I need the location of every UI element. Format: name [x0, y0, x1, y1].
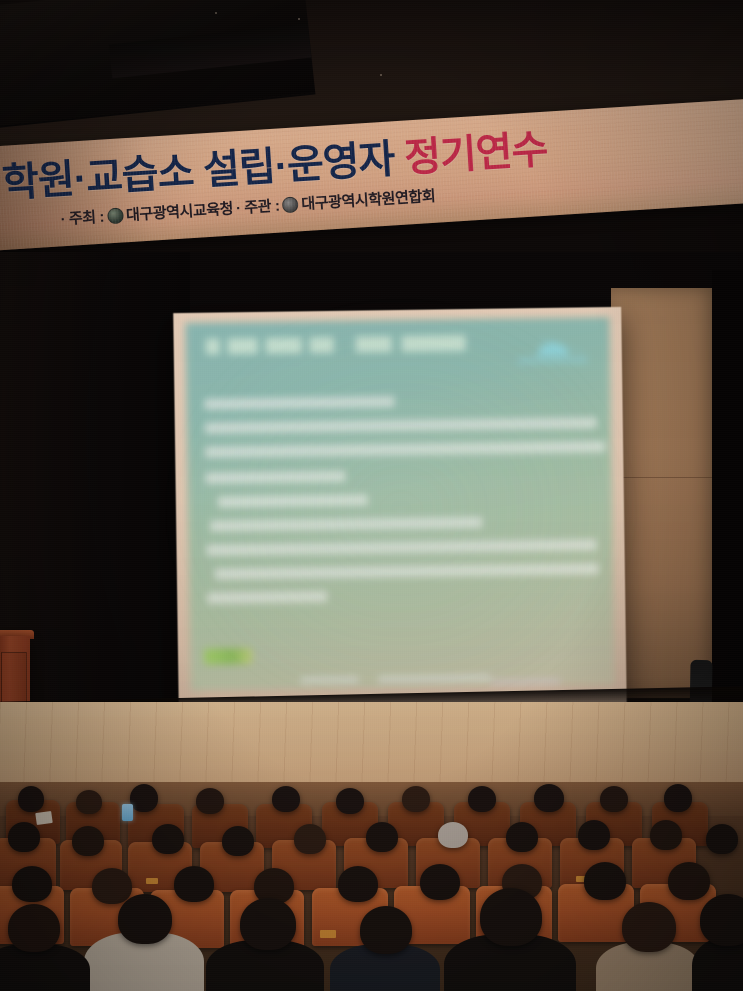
projection-screen [173, 307, 627, 713]
handout-paper [35, 811, 53, 825]
slide-body-line [205, 417, 597, 433]
audience-head [92, 868, 132, 904]
phone-screen [122, 804, 133, 821]
audience-head [700, 894, 743, 946]
globe-emblem-icon [107, 207, 124, 224]
audience-head [222, 826, 254, 856]
stage-right-dark-edge [712, 270, 743, 720]
slide-logo-caption [518, 357, 588, 363]
audience-head [130, 784, 158, 812]
audience-head [534, 784, 564, 812]
stage-wall-panel-right [611, 288, 719, 698]
audience-head [650, 820, 682, 850]
audience-head [294, 824, 326, 854]
audience-head [420, 864, 460, 900]
audience-head [18, 786, 44, 812]
slide-body-line [215, 563, 599, 579]
audience-head [12, 866, 52, 902]
slide-body-line [210, 517, 482, 532]
slide-footer-note [490, 679, 560, 685]
slide-body-line [207, 591, 327, 604]
audience-head [196, 788, 224, 814]
audience-head [506, 822, 538, 852]
podium-front-panel [1, 652, 27, 704]
audience-head [72, 826, 104, 856]
audience-head [174, 866, 214, 902]
audience-head [360, 906, 412, 954]
audience-head [622, 902, 676, 952]
projected-slide [185, 317, 614, 691]
audience-head [272, 786, 300, 812]
audience-head [706, 824, 738, 854]
audience-head [76, 790, 102, 814]
audience-head [668, 862, 710, 900]
audience-head [438, 822, 468, 848]
banner-organizer-prefix: · 주관 : [235, 195, 280, 219]
banner-title-red: 정기연수 [403, 128, 549, 181]
audience-head [336, 788, 364, 814]
slide-body-line [205, 471, 345, 484]
auditorium-photo: 학원·교습소 설립·운영자 정기연수 · 주최 : 대구광역시교육청 · 주관 … [0, 0, 743, 991]
audience-head [578, 820, 610, 850]
audience-head [338, 866, 378, 902]
audience-head [664, 784, 692, 812]
slide-footer-text [300, 675, 490, 684]
seat-number-tag [320, 930, 336, 938]
ceiling-light-speck [215, 12, 217, 14]
slide-title-text [206, 335, 466, 355]
audience-head [8, 904, 60, 952]
ceiling-light-speck [298, 18, 300, 20]
audience-shoulders [0, 944, 90, 991]
slide-accent-badge [204, 648, 252, 665]
slide-logo-icon [522, 329, 584, 356]
audience-head [480, 888, 542, 946]
banner-host-prefix: · 주최 : [60, 206, 105, 230]
audience-head [584, 862, 626, 900]
ceiling-light-speck [380, 74, 382, 76]
seated-audience [0, 782, 743, 991]
audience-head [8, 822, 40, 852]
audience-head [468, 786, 496, 812]
audience-head [366, 822, 398, 852]
audience-head [402, 786, 430, 812]
slide-body-line [218, 494, 368, 507]
flower-emblem-icon [282, 196, 299, 213]
audience-head [118, 894, 172, 944]
slide-body-line [205, 441, 605, 458]
audience-head [152, 824, 184, 854]
audience-head [600, 786, 628, 812]
banner-host-name: 대구광역시교육청 [125, 197, 233, 225]
audience-head [240, 898, 296, 950]
seat-number-tag [146, 878, 158, 884]
slide-body-line [204, 396, 394, 410]
slide-body-line [206, 539, 596, 555]
